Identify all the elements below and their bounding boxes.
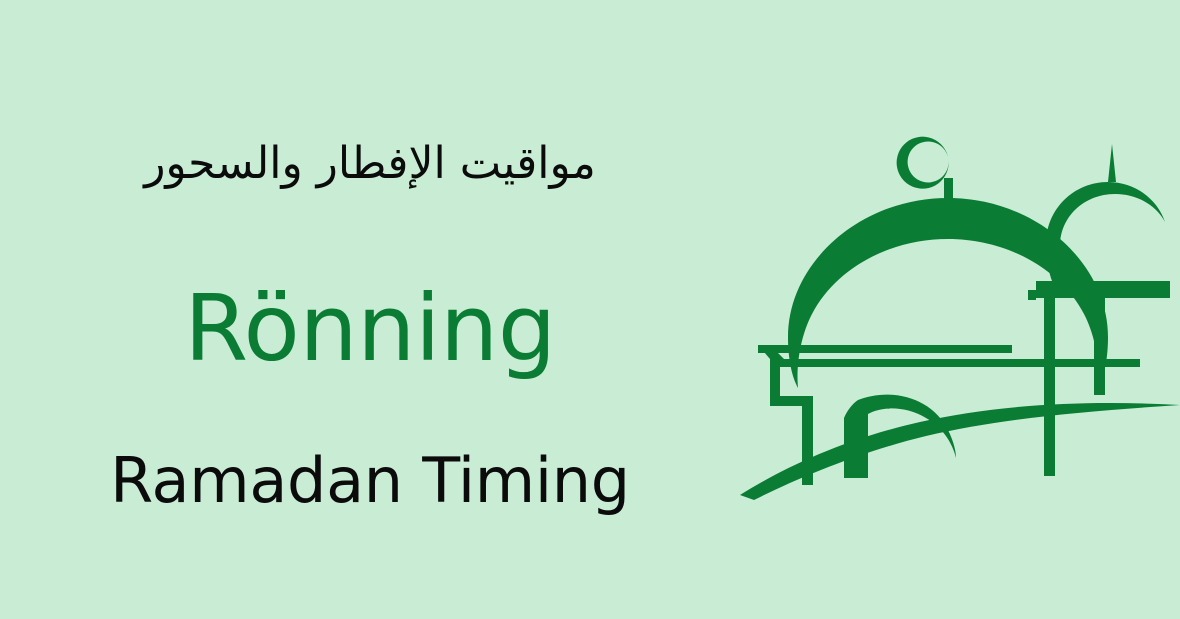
city-name: Rönning	[0, 283, 740, 375]
dome-finial-crescent	[897, 137, 953, 202]
minaret-column-left	[1044, 298, 1055, 476]
arabic-title: مواقيت الإفطار والسحور	[0, 142, 740, 186]
text-block: مواقيت الإفطار والسحور Rönning Ramadan T…	[0, 0, 740, 619]
subtitle: Ramadan Timing	[0, 450, 740, 512]
ramadan-timing-poster: مواقيت الإفطار والسحور Rönning Ramadan T…	[0, 0, 1180, 619]
minaret-column-right	[1094, 298, 1105, 395]
mosque-illustration	[740, 100, 1180, 520]
building-cornice	[758, 345, 1140, 367]
minaret-platform	[1028, 281, 1170, 300]
minaret-spire	[1108, 144, 1116, 182]
